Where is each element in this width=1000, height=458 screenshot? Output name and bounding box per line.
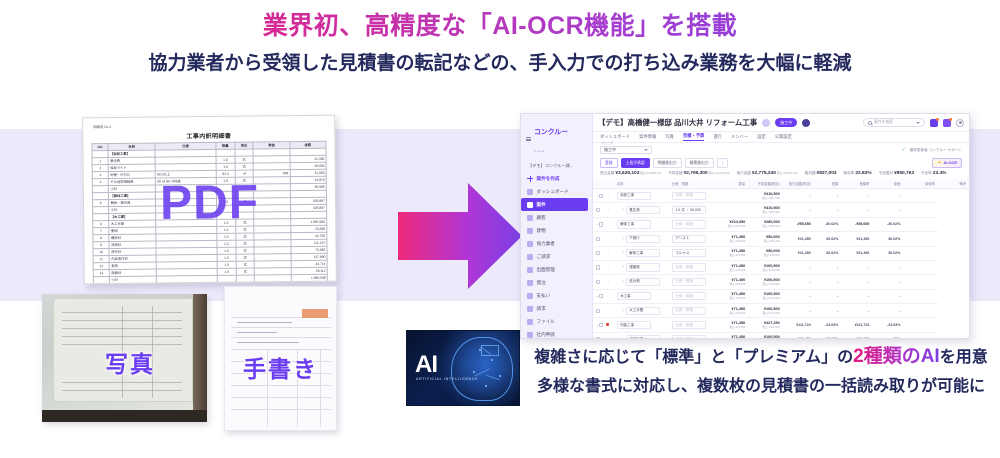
row-checkbox[interactable] (599, 194, 603, 198)
diff-amount: - (783, 304, 814, 318)
grid-col-1: 仕様・規格 (669, 179, 714, 189)
row-name-value: 下請け (626, 235, 660, 243)
summary-label: 実行金額 (737, 171, 752, 175)
grid-col-8: 原価率 (903, 179, 937, 189)
sidebar-item-label: 協力業者 (537, 241, 555, 247)
cost-amount: - (841, 289, 872, 303)
sidebar-item-12[interactable]: 社内申請 (521, 328, 592, 339)
summary-label: 予定粗利 (879, 171, 894, 175)
diff-amount: ¥21,450 (783, 246, 814, 260)
photo-dark-bottom (42, 410, 207, 422)
building-icon (527, 228, 533, 234)
actual-amount-sub: 税込 ¥55,000 (751, 239, 779, 243)
summary-value: 23.4% (933, 171, 947, 176)
row-select-cell[interactable] (593, 275, 603, 289)
sidebar-item-label: ファイル (537, 319, 555, 325)
summary-value: ¥827,003 (817, 171, 837, 176)
summary-value: ¥3,626,103 (615, 171, 639, 176)
conclu-app-screenshot: コンクルー Cloud 【デモ】コンクルー建... 案件を作成ダッシュボード案件… (520, 113, 970, 339)
actual-amount[interactable]: ¥100,500税込 ¥110,550 (748, 289, 782, 303)
row-name-cell[interactable]: 木工事 (614, 289, 669, 303)
chevron-down-icon (644, 149, 648, 151)
tab-1[interactable]: 案件情報 (639, 134, 656, 141)
row-select-cell[interactable] (593, 246, 603, 260)
sidebar-item-label: 建物 (537, 228, 546, 234)
payment-icon (527, 293, 533, 299)
cost-rate: - (872, 189, 903, 203)
actual-amount[interactable]: ¥100,500税込 ¥110,550 (748, 260, 782, 274)
last-updated-text: 最終更新者 コンクルー サポート (910, 148, 962, 153)
row-select-cell[interactable]: ⌄ (593, 189, 603, 203)
row-select-cell[interactable]: ⌄ (593, 217, 603, 231)
row-name-cell[interactable]: ↳ 養生費 (614, 203, 669, 217)
row-name-value: 養生費 (626, 206, 660, 214)
action-button-3[interactable]: 帳票書出力 (685, 158, 714, 169)
row-select-cell[interactable]: ⌄ (593, 289, 603, 303)
sidebar-item-label: 支払い (537, 293, 551, 299)
row-checkbox[interactable] (599, 294, 603, 298)
row-name-value: 床材工事 (626, 335, 660, 338)
table-row[interactable]: ⋮↳ 下請けアリスト¥71,450税込 ¥78,595¥50,000税込 ¥55… (593, 232, 969, 246)
diff-amount: - (783, 289, 814, 303)
row-select-cell[interactable] (593, 304, 603, 318)
row-name-cell[interactable]: 仮設工事 (614, 189, 669, 203)
budget-amount-sub: 税込 ¥78,595 (717, 268, 745, 272)
budget-amount[interactable]: ¥71,450税込 ¥78,595 (714, 275, 748, 289)
row-spec-value: 仕様・規格 (672, 278, 706, 286)
contacts-icon (527, 215, 533, 221)
alert-marker (606, 323, 609, 326)
row-spec-cell[interactable]: 仕様・規格 (669, 318, 714, 332)
check-icon: ✓ (902, 147, 906, 153)
grid-col-9: 備考 (938, 179, 969, 189)
diff-rate: -24.03% (814, 318, 842, 332)
brand-sub: Cloud (534, 149, 545, 153)
row-name-cell[interactable]: ↳ 運搬費 (614, 260, 669, 274)
row-spec-cell[interactable]: アリスト (669, 232, 714, 246)
row-spec-value: 仕様・規格 (672, 192, 706, 200)
tab-4[interactable]: 進行 (713, 134, 722, 141)
sidebar-item-label: 社内申請 (537, 332, 555, 338)
handwriting-stamp (302, 309, 328, 318)
actual-amount[interactable]: ¥100,500税込 ¥110,550 (748, 304, 782, 318)
row-handle-cell[interactable]: ⋮ (603, 332, 613, 338)
diff-rate: - (814, 203, 842, 217)
cost-amount: ¥111,724 (841, 318, 872, 332)
cost-amount: - (841, 275, 872, 289)
row-spec-cell[interactable]: 1.0 式 ・ 50,000 (669, 203, 714, 217)
actual-amount-sub: 税込 ¥308,000 (751, 224, 779, 228)
sidebar-item-8[interactable]: 発注 (521, 276, 592, 289)
diff-amount: -¥55,650 (783, 217, 814, 231)
diff-rate: 30.02% (814, 232, 842, 246)
actual-amount-sub: 税込 ¥110,550 (751, 268, 779, 272)
row-checkbox[interactable] (596, 208, 600, 212)
page-headline: 業界初、高精度な「AI-OCR機能」を搭載 (0, 6, 1000, 42)
caption-highlight: 2種類のAI (853, 346, 940, 367)
grid-col-6: 差額率 (841, 179, 872, 189)
summary-item-5: 予定粗利 ¥850,763 (879, 171, 914, 176)
billing-icon (527, 306, 533, 312)
cost-rate: 30% (872, 332, 903, 338)
search-input[interactable]: 案件を検索 (863, 118, 925, 127)
row-note-cell[interactable] (903, 260, 937, 274)
favorite-icon[interactable] (762, 119, 770, 127)
actual-amount[interactable]: ¥100,500税込 ¥110,550 (748, 275, 782, 289)
attendance-icon (527, 267, 533, 273)
budget-grid[interactable]: 名称仕様・規格数量予算金額(税抜)実行金額(税抜)差額差額率原価原価率備考 ⌄⋮… (593, 179, 969, 338)
diff-rate: 30.02% (814, 246, 842, 260)
row-handle-cell[interactable]: ⋮ (603, 189, 613, 203)
grid-col-3: 予算金額(税抜) (748, 179, 782, 189)
sidebar-item-label: 案件 (537, 202, 546, 208)
row-checkbox[interactable] (596, 280, 600, 284)
table-row[interactable]: ⌄⋮木工事仕様・規格¥71,450税込 ¥78,595¥100,500税込 ¥1… (593, 289, 969, 303)
photo-dark-edge (193, 294, 207, 422)
hamburger-icon[interactable] (526, 137, 531, 142)
chat-icon[interactable] (930, 119, 938, 127)
row-note-cell[interactable] (903, 275, 937, 289)
row-handle-cell[interactable]: ⋮ (603, 260, 613, 274)
row-spec-cell[interactable]: 仕様・規格 (669, 332, 714, 338)
diff-rate: - (814, 304, 842, 318)
row-spec-cell[interactable]: 仕様・規格 (669, 304, 714, 318)
budget-amount[interactable]: ¥71,450税込 ¥78,595 (714, 232, 748, 246)
cost-rate: - (872, 203, 903, 217)
sidebar-item-label: 案件を作成 (537, 176, 560, 182)
row-handle-cell[interactable]: ⋮ (603, 289, 613, 303)
row-spec-value: アリスト (672, 235, 706, 243)
cost-amount: -¥55,650 (841, 217, 872, 231)
cost-rate: - (872, 289, 903, 303)
row-name-cell[interactable]: ↳ 処分費 (614, 275, 669, 289)
grid-col-0: 名称 (614, 179, 669, 189)
invoice-icon (527, 254, 533, 260)
phase-filter-label: フェーズ (601, 141, 613, 145)
action-button-4[interactable]: ⋮ (717, 158, 729, 169)
app-filter-bar: フェーズ 施工中 ✓ 最終更新者 コンクルー サポート (593, 143, 969, 157)
diff-rate: -30.62% (814, 217, 842, 231)
app-brand: コンクルー Cloud (521, 117, 592, 161)
summary-sub: 税込 ¥3,988,713 (639, 171, 661, 175)
budget-amount[interactable]: ¥71,450税込 ¥78,595 (714, 304, 748, 318)
grid-col-handle (603, 179, 613, 189)
row-note-cell[interactable] (903, 189, 937, 203)
table-row[interactable]: ⋮↳ 床材工事仕様・規格¥71,450税込 ¥78,595¥100,500税込 … (593, 332, 969, 338)
budget-amount-sub: 税込 ¥78,595 (717, 239, 745, 243)
budget-amount[interactable]: ¥71,450税込 ¥78,595 (714, 318, 748, 332)
diff-amount: ¥21,450 (783, 332, 814, 338)
actual-amount-sub: 税込 ¥110,550 (751, 282, 779, 286)
project-title: 【デモ】高橋健一様邸 品川大井 リフォーム工事 (598, 117, 757, 128)
budget-amount[interactable]: ¥224,350税込 ¥246,785 (714, 217, 748, 231)
pdf-table-body: 【仮設工事】1養生費1.0式12,3002仮設ライト1.0式28,6003地墨・… (92, 148, 328, 284)
row-checkbox[interactable] (596, 265, 600, 269)
caption-line1-post: を用意 (940, 349, 988, 366)
summary-value: ¥2,799,300 (684, 171, 708, 176)
search-placeholder: 案件を検索 (874, 120, 893, 125)
action-button-2[interactable]: 明細書出力 (653, 158, 682, 169)
grid-col-2: 数量 (714, 179, 748, 189)
table-row[interactable]: ⌄⋮仮設工事仕様・規格¥410,500税込 ¥451,550---- (593, 189, 969, 203)
row-name-value: 木工事 (617, 292, 651, 300)
row-spec-cell[interactable]: 仕様・規格 (669, 260, 714, 274)
row-select-cell[interactable] (593, 332, 603, 338)
actual-amount[interactable]: ¥280,000税込 ¥308,000 (748, 217, 782, 231)
action-button-1[interactable]: 上長が承認 (621, 158, 650, 169)
pdf-estimate-table: NO名称仕様数量単位単価金額 【仮設工事】1養生費1.0式12,3002仮設ライ… (91, 141, 328, 285)
sidebar-item-11[interactable]: ファイル (521, 315, 592, 328)
actual-amount-sub: 税込 ¥110,550 (751, 311, 779, 315)
sidebar-item-5[interactable]: 協力業者 (521, 237, 592, 250)
summary-sub: 税込 ¥3,052,764 (776, 171, 798, 175)
row-name-value: 仮設工事 (617, 192, 651, 200)
sidebar-item-label: 出面管理 (537, 267, 555, 273)
diff-rate: - (814, 289, 842, 303)
actual-amount[interactable]: ¥50,000税込 ¥55,000 (748, 246, 782, 260)
row-note-cell[interactable] (903, 217, 937, 231)
sidebar-item-6[interactable]: ご請求 (521, 250, 592, 263)
summary-sub: 税込 ¥3,079,230 (708, 171, 730, 175)
sidebar-item-0[interactable]: 案件を作成 (521, 172, 592, 185)
row-name-cell[interactable]: 解体工事 (614, 217, 669, 231)
table-row[interactable]: ⋮↳ 解体工事マルヤス¥71,450税込 ¥78,595¥50,000税込 ¥5… (593, 246, 969, 260)
grid-col-4: 実行金額(税抜) (783, 179, 814, 189)
row-select-cell[interactable] (593, 232, 603, 246)
file-icon (527, 319, 533, 325)
app-main: 【デモ】高橋健一様邸 品川大井 リフォーム工事 施工中 案件を検索 ダッシュボー… (593, 114, 969, 338)
approval-icon (527, 332, 533, 338)
right-arrow-icon (398, 183, 522, 289)
handwriting-thumb-label: 手書き (243, 350, 318, 384)
sidebar-item-10[interactable]: 請求 (521, 302, 592, 315)
table-row[interactable]: ⋮↳ 処分費仕様・規格¥71,450税込 ¥78,595¥100,500税込 ¥… (593, 275, 969, 289)
grid-col-select (593, 179, 603, 189)
sidebar-item-4[interactable]: 建物 (521, 224, 592, 237)
sidebar-item-1[interactable]: ダッシュボード (521, 185, 592, 198)
sidebar-item-label: 発注 (537, 280, 546, 286)
summary-item-0: 受注金額 ¥3,626,103 税込 ¥3,988,713 (600, 171, 661, 176)
row-checkbox[interactable] (599, 323, 603, 327)
tab-7[interactable]: 公開設定 (775, 134, 792, 141)
row-name-value: 解体工事 (626, 249, 660, 257)
row-spec-cell[interactable]: 仕様・規格 (669, 217, 714, 231)
row-spec-value: 仕様・規格 (672, 307, 706, 315)
row-handle-cell[interactable]: ⋮ (603, 232, 613, 246)
summary-item-1: 予算金額 ¥2,799,300 税込 ¥3,079,230 (668, 171, 729, 176)
tab-5[interactable]: メンバー (731, 134, 748, 141)
row-checkbox[interactable] (596, 309, 600, 313)
bell-icon[interactable] (943, 119, 951, 127)
table-row[interactable]: ⋮↳ 養生費1.0 式 ・ 50,000¥410,500税込 ¥451,550-… (593, 203, 969, 217)
tab-3[interactable]: 見積・予算 (683, 133, 704, 141)
row-name-cell[interactable]: ↳ 下請け (614, 232, 669, 246)
phase-filter-value: 施工中 (604, 147, 616, 153)
action-button-0[interactable]: 登録 (600, 158, 618, 169)
pdf-doc-title: 工事内訳明細書 (91, 130, 326, 141)
diff-amount: ¥21,450 (783, 232, 814, 246)
sidebar-item-9[interactable]: 支払い (521, 289, 592, 302)
actual-amount-sub: 税込 ¥451,550 (751, 196, 779, 200)
ai-illustration: AI ARTIFICIAL INTELLIGENCE (406, 330, 520, 406)
row-spec-cell[interactable]: マルヤス (669, 246, 714, 260)
budget-amount[interactable]: ¥71,450税込 ¥78,595 (714, 332, 748, 338)
actual-amount-sub: 税込 ¥451,550 (751, 210, 779, 214)
cost-amount: - (841, 260, 872, 274)
cost-amount: ¥21,450 (841, 232, 872, 246)
sidebar-item-3[interactable]: 顧客 (521, 211, 592, 224)
actual-amount[interactable]: ¥50,000税込 ¥55,000 (748, 232, 782, 246)
row-select-cell[interactable] (593, 203, 603, 217)
cost-amount: ¥21,450 (841, 246, 872, 260)
row-handle-cell[interactable]: ⋮ (603, 275, 613, 289)
sidebar-item-7[interactable]: 出面管理 (521, 263, 592, 276)
row-handle-cell[interactable] (603, 318, 613, 332)
row-note-cell[interactable] (903, 246, 937, 260)
tab-0[interactable]: ダッシュボード (600, 134, 630, 141)
grid-col-7: 原価 (872, 179, 903, 189)
row-checkbox[interactable] (596, 251, 600, 255)
ai-subtitle: ARTIFICIAL INTELLIGENCE (416, 377, 478, 381)
summary-item-3: 粗利額 ¥827,003 (805, 171, 837, 176)
tab-2[interactable]: 写真 (665, 134, 674, 141)
actual-amount[interactable]: ¥410,500税込 ¥451,550 (748, 189, 782, 203)
row-note-cell[interactable] (903, 289, 937, 303)
table-row[interactable]: ⌄内装工事仕様・規格¥71,450税込 ¥78,595¥427,250税込 ¥4… (593, 318, 969, 332)
row-note-cell[interactable] (903, 304, 937, 318)
row-handle-cell[interactable]: ⋮ (603, 246, 613, 260)
summary-label: 予定率 (921, 171, 933, 175)
row-checkbox[interactable] (596, 237, 600, 241)
cost-rate: -30.62% (872, 217, 903, 231)
summary-label: 粗利額 (805, 171, 817, 175)
summary-value: 22.83% (855, 171, 871, 176)
table-row[interactable]: ⌄⋮解体工事仕様・規格¥224,350税込 ¥246,785¥280,000税込… (593, 217, 969, 231)
row-spec-cell[interactable]: 仕様・規格 (669, 189, 714, 203)
account-selector[interactable]: 【デモ】コンクルー建... (521, 161, 592, 172)
ai-title: AI (415, 353, 437, 377)
diff-amount: - (783, 275, 814, 289)
row-spec-value: 仕様・規格 (672, 321, 706, 329)
row-name-value: 運搬費 (626, 263, 660, 271)
actual-amount-value: ¥100,500 (751, 335, 779, 338)
actual-amount[interactable]: ¥410,500税込 ¥451,550 (748, 203, 782, 217)
row-spec-cell[interactable]: 仕様・規格 (669, 289, 714, 303)
row-handle-cell[interactable]: ⋮ (603, 217, 613, 231)
diff-rate: 30.02% (814, 332, 842, 338)
search-icon (868, 121, 872, 125)
cost-rate: - (872, 304, 903, 318)
row-spec-value: 仕様・規格 (672, 263, 706, 271)
sidebar-item-label: ダッシュボード (537, 189, 569, 195)
budget-amount[interactable] (714, 203, 748, 217)
row-note-cell[interactable] (903, 318, 937, 332)
ai-ocr-button[interactable]: ✦AI-OCR (932, 158, 962, 169)
row-name-cell[interactable]: ↳ 大工手間 (614, 304, 669, 318)
budget-amount[interactable]: ¥71,450税込 ¥78,595 (714, 289, 748, 303)
row-note-cell[interactable] (903, 232, 937, 246)
diff-rate: - (814, 189, 842, 203)
table-row[interactable]: ⋮↳ 大工手間仕様・規格¥71,450税込 ¥78,595¥100,500税込 … (593, 304, 969, 318)
row-checkbox[interactable] (596, 337, 600, 338)
row-name-cell[interactable]: ↳ 解体工事 (614, 246, 669, 260)
actual-amount-sub: 税込 ¥55,000 (751, 253, 779, 257)
status-badge[interactable]: 施工中 (775, 118, 797, 126)
actual-amount[interactable]: ¥100,500税込 ¥110,550 (748, 332, 782, 338)
sidebar-item-2[interactable]: 案件 (521, 198, 588, 211)
budget-table-header: 名称仕様・規格数量予算金額(税抜)実行金額(税抜)差額差額率原価原価率備考 (593, 179, 969, 189)
app-action-bar: 登録上長が承認明細書出力帳票書出力⋮✦AI-OCR (593, 157, 969, 169)
diff-rate: - (814, 275, 842, 289)
row-checkbox[interactable] (599, 222, 603, 226)
order-icon (527, 280, 533, 286)
page-subheadline: 協力業者から受領した見積書の転記などの、手入力での打ち込み業務を大幅に軽減 (0, 48, 1000, 75)
diff-amount: - (783, 203, 814, 217)
row-name-cell[interactable]: ↳ 床材工事 (614, 332, 669, 338)
row-name-cell[interactable]: 内装工事 (614, 318, 669, 332)
diff-rate: - (814, 260, 842, 274)
summary-label: 粗利率 (844, 171, 856, 175)
cost-rate: - (872, 260, 903, 274)
budget-amount[interactable]: ¥71,450税込 ¥78,595 (714, 260, 748, 274)
sidebar-nav-list: 案件を作成ダッシュボード案件顧客建物協力業者ご請求出面管理発注支払い請求ファイル… (521, 172, 592, 339)
row-name-value: 解体工事 (617, 220, 651, 228)
plus-icon (527, 176, 533, 182)
photo-thumb-label: 写真 (105, 345, 155, 379)
row-spec-value: 仕様・規格 (672, 335, 706, 338)
info-icon[interactable] (802, 119, 810, 127)
diff-amount: - (783, 260, 814, 274)
row-handle-cell[interactable]: ⋮ (603, 203, 613, 217)
cost-amount: - (841, 304, 872, 318)
actual-amount[interactable]: ¥427,250税込 ¥469,975 (748, 318, 782, 332)
app-topbar: 【デモ】高橋健一様邸 品川大井 リフォーム工事 施工中 案件を検索 (593, 114, 969, 132)
summary-item-6: 予定率 23.4% (921, 171, 946, 176)
actual-amount-sub: 税込 ¥469,975 (751, 325, 779, 329)
dashboard-icon (527, 189, 533, 195)
budget-amount[interactable] (714, 189, 748, 203)
budget-amount-sub: 税込 ¥78,595 (717, 253, 745, 257)
row-select-cell[interactable]: ⌄ (593, 318, 603, 332)
partners-icon (527, 241, 533, 247)
row-spec-value: 仕様・規格 (672, 220, 706, 228)
budget-amount-sub: 税込 ¥246,785 (717, 224, 745, 228)
budget-amount[interactable]: ¥71,450税込 ¥78,595 (714, 246, 748, 260)
row-handle-cell[interactable]: ⋮ (603, 304, 613, 318)
phase-filter-select[interactable]: 施工中 (600, 146, 652, 155)
row-spec-cell[interactable]: 仕様・規格 (669, 275, 714, 289)
table-row[interactable]: ⋮↳ 運搬費仕様・規格¥71,450税込 ¥78,595¥100,500税込 ¥… (593, 260, 969, 274)
brand-name: コンクルー (534, 129, 568, 136)
summary-item-4: 粗利率 22.83% (844, 171, 872, 176)
avatar[interactable] (956, 119, 964, 127)
summary-row: 受注金額 ¥3,626,103 税込 ¥3,988,713予算金額 ¥2,799… (593, 169, 969, 179)
row-note-cell[interactable] (903, 332, 937, 338)
row-select-cell[interactable] (593, 260, 603, 274)
pdf-document-card: 明細書 No.1 工事内訳明細書 NO名称仕様数量単位単価金額 【仮設工事】1養… (82, 115, 337, 285)
chevron-down-icon (916, 122, 920, 124)
app-sidebar: コンクルー Cloud 【デモ】コンクルー建... 案件を作成ダッシュボード案件… (521, 114, 593, 338)
row-name-value: 内装工事 (617, 321, 651, 329)
budget-amount-sub: 税込 ¥78,595 (717, 296, 745, 300)
summary-value: ¥850,763 (894, 171, 914, 176)
budget-amount-value: ¥71,450 (717, 335, 745, 338)
cost-rate: 30.02% (872, 232, 903, 246)
tab-6[interactable]: 設定 (757, 134, 766, 141)
diff-amount: ¥111,724 (783, 318, 814, 332)
row-note-cell[interactable] (903, 203, 937, 217)
caption-line-1: 複雑さに応じて「標準」と「プレミアム」の2種類のAIを用意 (528, 341, 994, 368)
